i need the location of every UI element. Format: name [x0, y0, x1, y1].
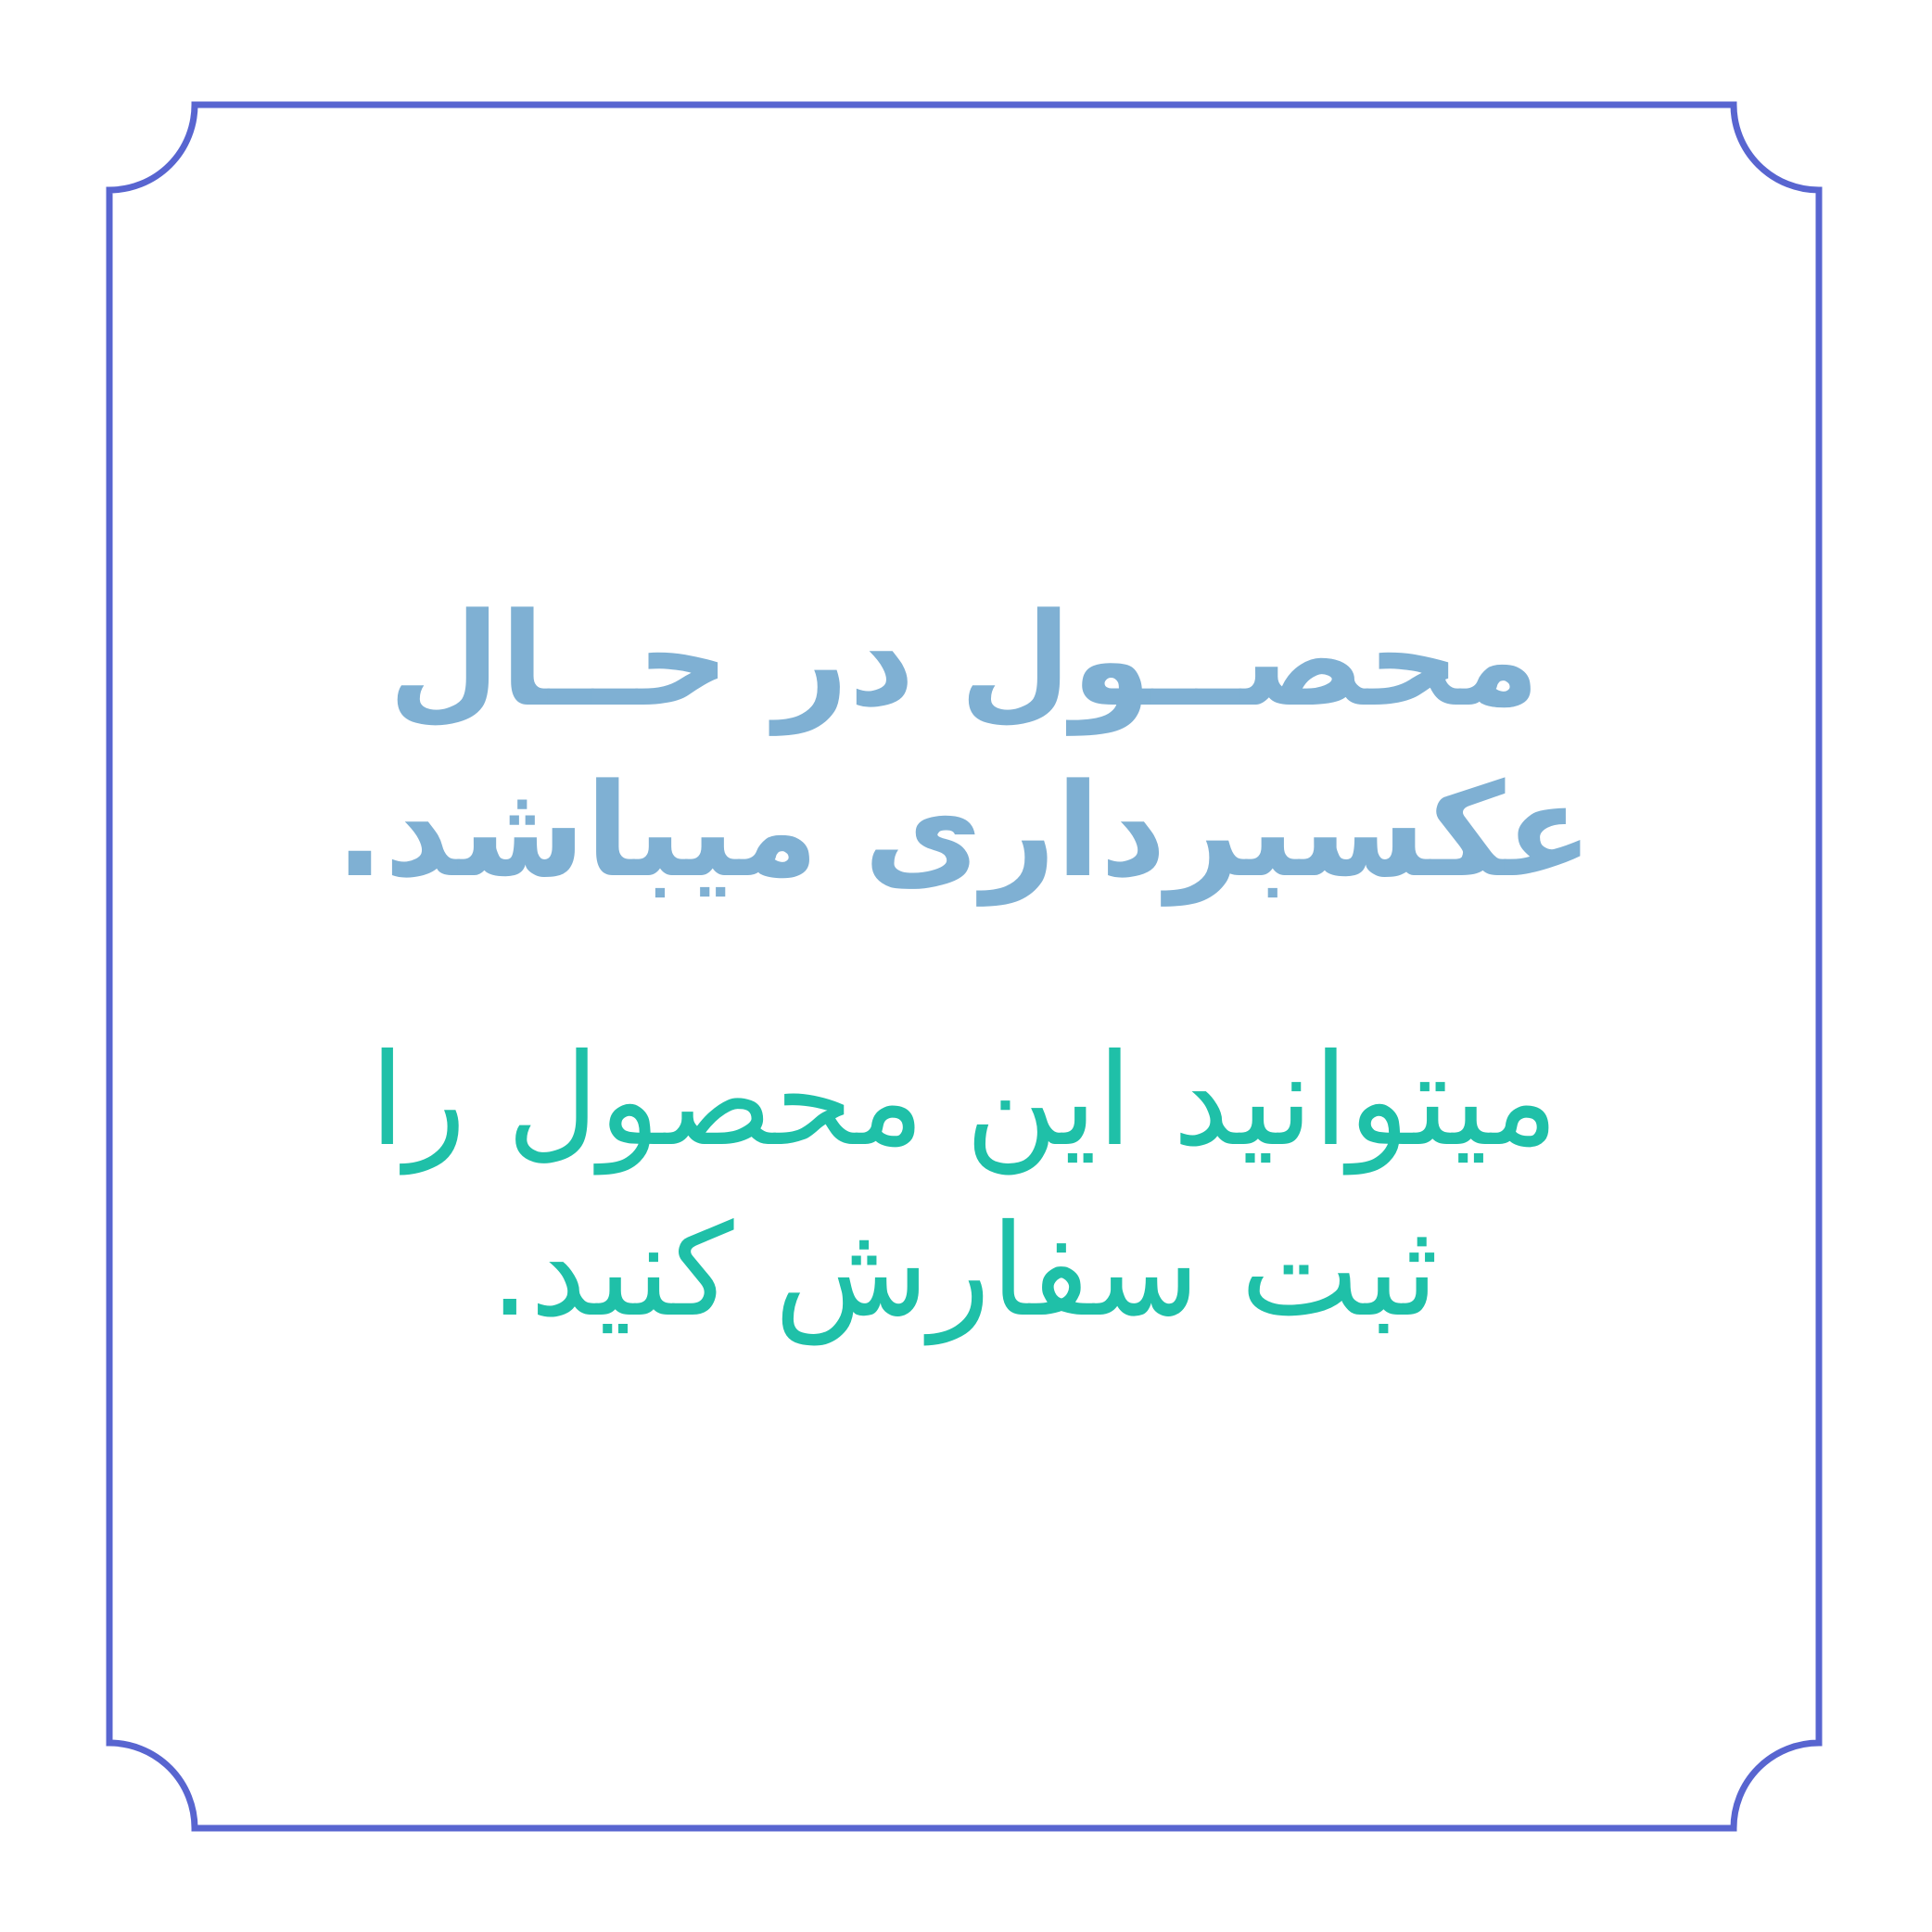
placeholder-card: محصــول در حــال عکسبرداری میباشد. میتوا… — [0, 0, 1932, 1932]
message-spacer — [109, 916, 1819, 1016]
primary-status-message: محصــول در حــال عکسبرداری میباشد. — [109, 576, 1819, 916]
message-container: محصــول در حــال عکسبرداری میباشد. میتوا… — [109, 105, 1819, 1828]
secondary-action-message: میتوانید این محصول را ثبت سفارش کنید. — [109, 1016, 1819, 1356]
